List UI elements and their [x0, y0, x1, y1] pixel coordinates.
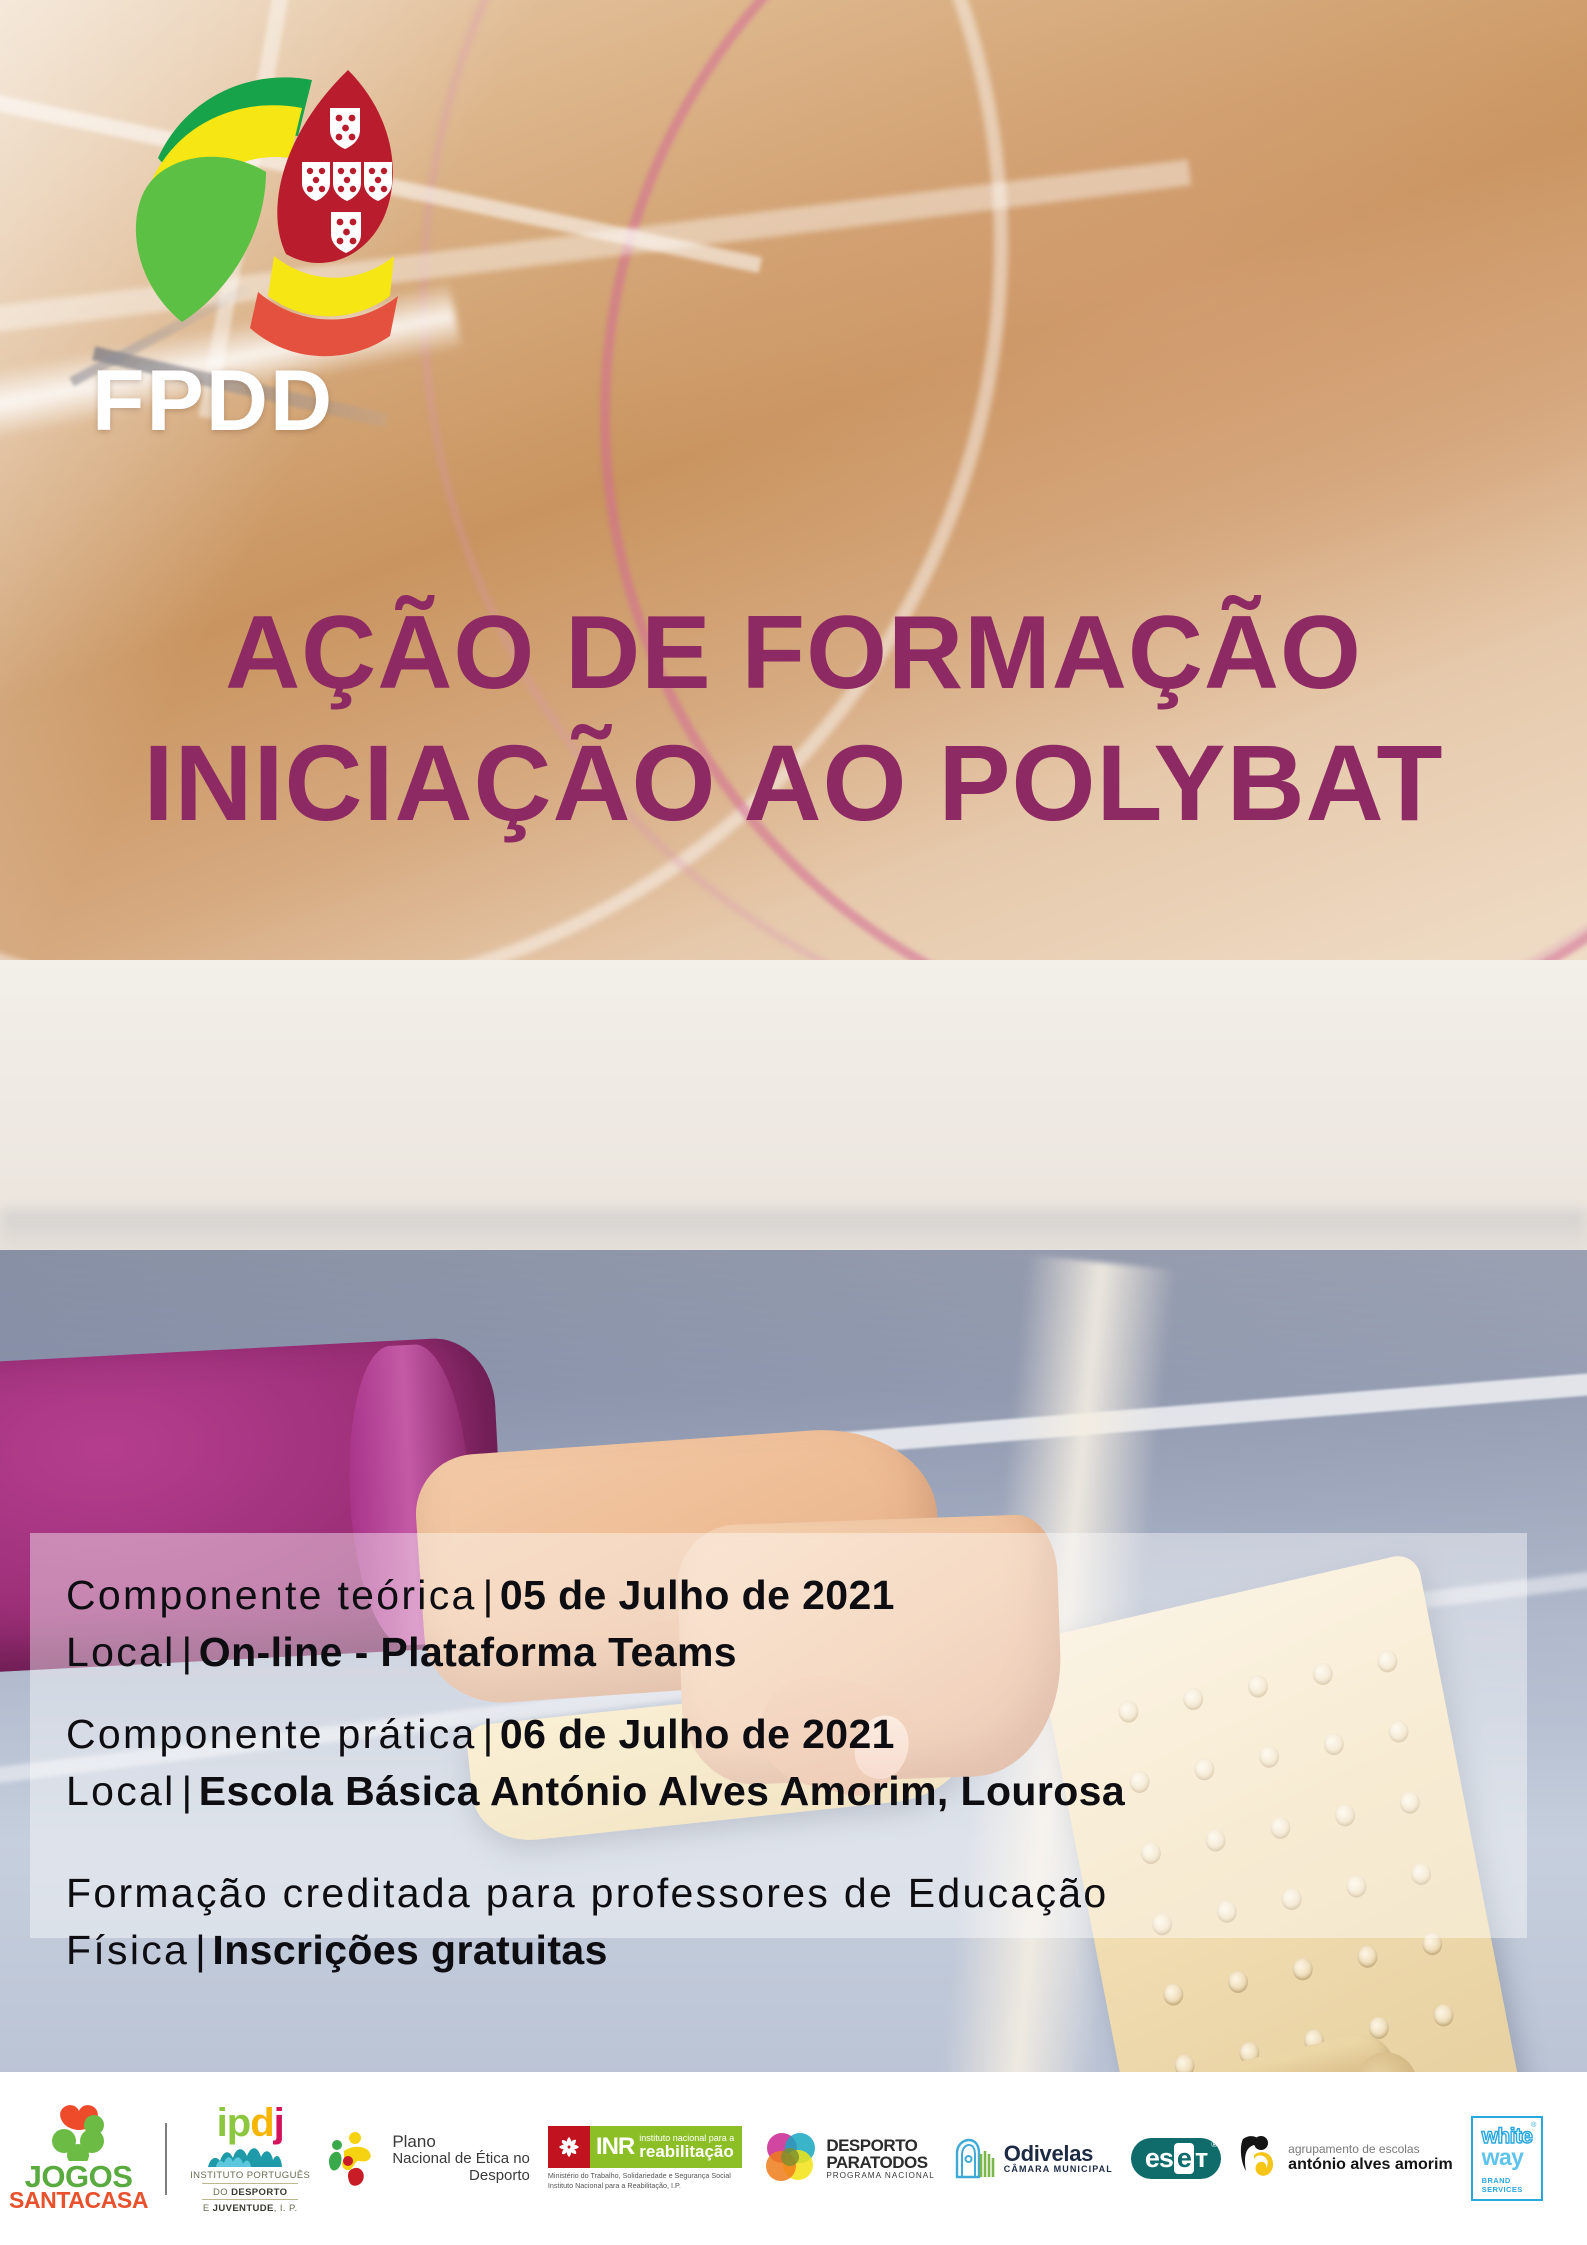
desporto-para-todos-circles-icon	[760, 2130, 820, 2188]
ipdj-sub3-a: E	[203, 2203, 213, 2214]
logo-odivelas: Odivelas CÂMARA MUNICIPAL	[944, 2099, 1122, 2219]
ipdj-splash-icon	[202, 2143, 298, 2169]
eset-part-3: т	[1195, 2143, 1207, 2174]
pned-line-1: Plano	[392, 2133, 530, 2151]
logo-plano-nacional-etica-desporto: Plano Nacional de Ética no Desporto	[319, 2099, 539, 2219]
spacer	[30, 1680, 1527, 1706]
theory-label: Componente teórica	[66, 1572, 477, 1618]
practice-date-value: 06 de Julho de 2021	[500, 1711, 895, 1757]
title-line-1: AÇÃO DE FORMAÇÃO	[0, 590, 1587, 717]
agrupamento-line-2: antónio alves amorim	[1288, 2156, 1453, 2174]
inr-mark: INR	[596, 2133, 634, 2161]
detail-credit-line-2: Física|Inscrições gratuitas	[30, 1922, 1527, 1979]
dpt-line-3: PROGRAMA NACIONAL	[826, 2172, 934, 2180]
ipdj-sub-1: INSTITUTO PORTUGUÊS	[190, 2171, 310, 2181]
logo-agrupamento-escolas: agrupamento de escolas antónio alves amo…	[1230, 2099, 1462, 2219]
logo-jogos-santacasa: JOGOS SANTACASA	[0, 2099, 157, 2219]
free-registration-value: Inscrições gratuitas	[212, 1927, 607, 1973]
credit-text: Formação creditada para professores de E…	[66, 1870, 1109, 1916]
whiteway-sub: BRAND SERVICES	[1482, 2176, 1533, 2194]
ipdj-sub3-c: , I. P.	[274, 2203, 298, 2214]
agrupamento-text: agrupamento de escolas antónio alves amo…	[1288, 2143, 1453, 2174]
eset-registered-mark: ®	[1211, 2140, 1217, 2149]
dpt-text: DESPORTO PARATODOS PROGRAMA NACIONAL	[826, 2137, 934, 2180]
whiteway-word-2: way	[1482, 2144, 1533, 2171]
detail-practice-local: Local|Escola Básica António Alves Amorim…	[30, 1763, 1527, 1820]
ipdj-wordmark: ipdj	[217, 2103, 284, 2143]
ipdj-sub2-b: DESPORTO	[231, 2187, 287, 2198]
pned-figures-icon	[328, 2131, 386, 2187]
pned-text: Plano Nacional de Ética no Desporto	[392, 2133, 530, 2184]
ipdj-sub-3: E JUVENTUDE, I. P.	[203, 2204, 298, 2214]
eset-part-1: es	[1145, 2143, 1173, 2174]
dpt-line-1: DESPORTO	[826, 2137, 934, 2154]
separator: |	[477, 1711, 500, 1757]
detail-credit-line-1: Formação creditada para professores de E…	[30, 1865, 1527, 1922]
credit-subject: Física	[66, 1927, 189, 1973]
event-details-panel: Componente teórica|05 de Julho de 2021 L…	[30, 1533, 1527, 1938]
inr-footnote: Ministério do Trabalho, Solidariedade e …	[548, 2171, 742, 2190]
fpdd-wordmark: FPDD	[92, 358, 334, 444]
dpt-para: PARA	[826, 2153, 870, 2172]
pned-line-2: Nacional de Ética no	[392, 2151, 530, 2167]
separator: |	[176, 1629, 199, 1675]
whiteway-sub-1: BRAND	[1482, 2176, 1533, 2185]
fpdd-logo	[90, 40, 420, 370]
eset-badge: eseт ®	[1131, 2138, 1221, 2179]
ipdj-sub-2: DO DESPORTO	[213, 2188, 287, 2198]
logo-ipdj: ipdj INSTITUTO PORTUGUÊS DO DESPORTO E J…	[181, 2099, 319, 2219]
dpt-line-2: PARATODOS	[826, 2154, 934, 2171]
detail-theory-local: Local|On-line - Plataforma Teams	[30, 1624, 1527, 1681]
footer-divider	[165, 2123, 167, 2195]
inr-republica-mark	[548, 2126, 590, 2168]
theory-local-value: On-line - Plataforma Teams	[199, 1629, 737, 1675]
theory-date-value: 05 de Julho de 2021	[500, 1572, 895, 1618]
ipdj-sub2-a: DO	[213, 2187, 231, 2198]
ipdj-ip: ip	[217, 2101, 251, 2145]
separator: |	[176, 1768, 199, 1814]
inr-row: INR instituto nacional para a reabilitaç…	[548, 2126, 742, 2168]
poster-title: AÇÃO DE FORMAÇÃO INICIAÇÃO AO POLYBAT	[0, 590, 1587, 849]
theory-local-label: Local	[66, 1629, 176, 1675]
ipdj-d: d	[250, 2101, 273, 2145]
logo-inr: INR instituto nacional para a reabilitaç…	[539, 2099, 751, 2219]
agrupamento-figure-icon	[1239, 2131, 1281, 2187]
republica-portuguesa-icon	[556, 2134, 582, 2160]
whiteway-badge: ® white way BRAND SERVICES	[1471, 2116, 1544, 2201]
inr-green-block: INR instituto nacional para a reabilitaç…	[590, 2126, 742, 2168]
fpdd-logo-icon	[90, 40, 420, 370]
odivelas-name: Odivelas	[1004, 2142, 1113, 2165]
santacasa-bottom-text: SANTACASA	[9, 2189, 148, 2212]
eset-part-2: e	[1174, 2143, 1194, 2174]
agrupamento-line-1: agrupamento de escolas	[1288, 2143, 1453, 2156]
odivelas-text: Odivelas CÂMARA MUNICIPAL	[1004, 2142, 1113, 2175]
odivelas-subtitle: CÂMARA MUNICIPAL	[1004, 2165, 1113, 2174]
practice-label: Componente prática	[66, 1711, 477, 1757]
logo-desporto-para-todos: DESPORTO PARATODOS PROGRAMA NACIONAL	[751, 2099, 943, 2219]
inr-footnote-2: Instituto Nacional para a Reabilitação, …	[548, 2181, 742, 2191]
poster-root: FPDD AÇÃO DE FORMAÇÃO INICIAÇÃO AO POLYB…	[0, 0, 1587, 2245]
ipdj-j: j	[274, 2101, 284, 2145]
ipdj-sub3-b: JUVENTUDE	[213, 2203, 274, 2214]
logo-eset: eseт ®	[1122, 2099, 1230, 2219]
footer-logo-strip: JOGOS SANTACASA ipdj INSTITUTO PORTUGUÊS…	[0, 2072, 1587, 2245]
odivelas-crest-icon	[953, 2137, 997, 2181]
wall-background	[0, 960, 1587, 1250]
spacer	[30, 1819, 1527, 1865]
title-line-2: INICIAÇÃO AO POLYBAT	[0, 717, 1587, 849]
separator: |	[477, 1572, 500, 1618]
whiteway-registered-mark: ®	[1531, 2122, 1536, 2129]
ipdj-rule	[202, 2183, 298, 2184]
practice-local-label: Local	[66, 1768, 176, 1814]
footer: PATROCINADOR PRINCIPAL PARCEIROS JOGOS S…	[0, 2120, 1587, 2245]
practice-local-value: Escola Básica António Alves Amorim, Lour…	[199, 1768, 1125, 1814]
separator: |	[189, 1927, 212, 1973]
inr-title-2: reabilitação	[639, 2143, 734, 2160]
ipdj-rule	[202, 2199, 298, 2200]
pned-line-3: Desporto	[392, 2168, 530, 2184]
santacasa-clover-icon	[36, 2105, 122, 2161]
detail-practice-date: Componente prática|06 de Julho de 2021	[30, 1706, 1527, 1763]
logo-white-way: ® white way BRAND SERVICES	[1462, 2099, 1553, 2219]
whiteway-sub-2: SERVICES	[1482, 2185, 1533, 2194]
inr-footnote-1: Ministério do Trabalho, Solidariedade e …	[548, 2171, 742, 2181]
dpt-todos: TODOS	[870, 2153, 928, 2172]
detail-theory-date: Componente teórica|05 de Julho de 2021	[30, 1567, 1527, 1624]
inr-title: instituto nacional para a reabilitação	[639, 2134, 734, 2160]
